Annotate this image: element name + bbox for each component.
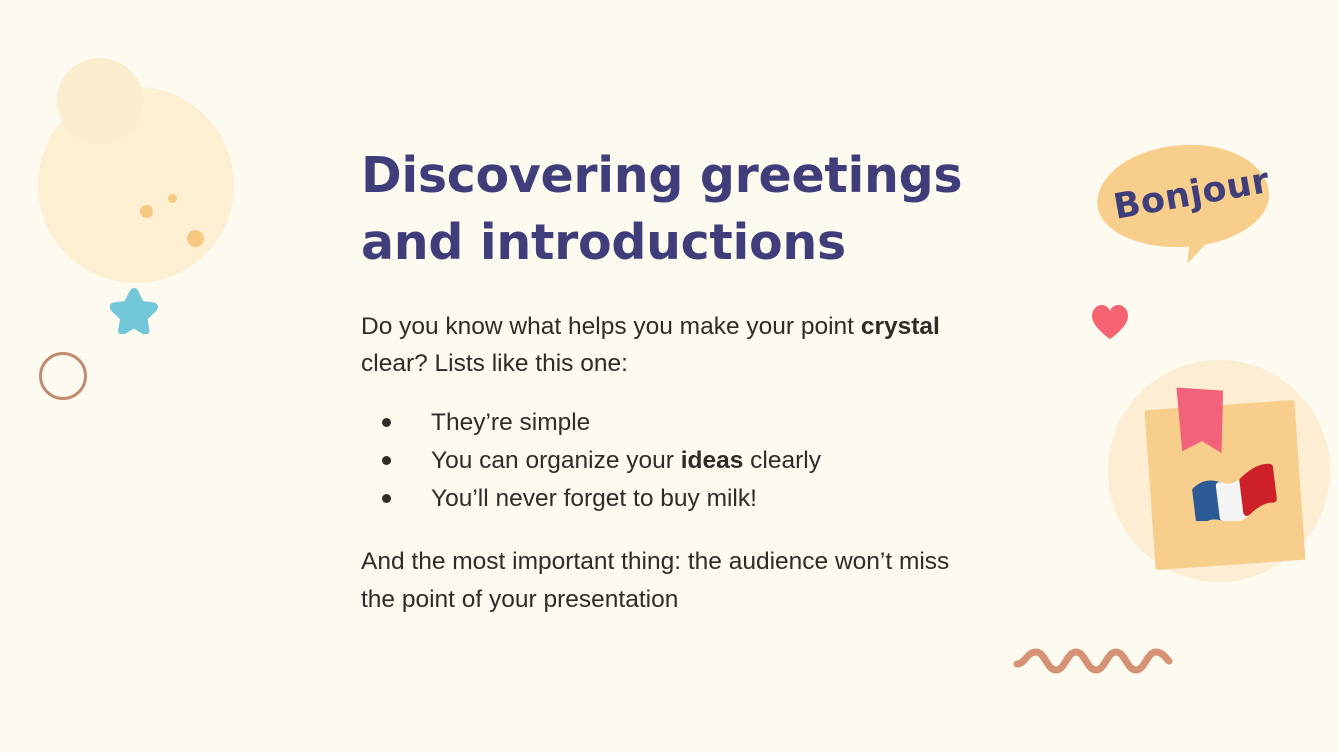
list-item-text: You’ll never forget to buy milk! (431, 485, 757, 512)
decorative-blob-small (57, 58, 143, 144)
slide-canvas: Bonjour (0, 0, 1338, 753)
list-item: You’ll never forget to buy milk! (361, 481, 981, 517)
list-item-emphasis: ideas (681, 447, 744, 474)
decorative-dot-1 (140, 205, 153, 218)
postcard-illustration (1108, 360, 1330, 605)
france-flag-icon (1190, 459, 1292, 521)
closing-paragraph: And the most important thing: the audien… (361, 519, 981, 617)
bullet-dot-icon (382, 494, 391, 503)
lead-paragraph: Do you know what helps you make your poi… (361, 276, 981, 382)
bullet-dot-icon (382, 418, 391, 427)
speech-bubble-tail (1187, 230, 1216, 267)
heart-icon (1090, 303, 1130, 341)
list-item-text-before: You can organize your (431, 447, 681, 474)
speech-bubble: Bonjour (1097, 145, 1282, 285)
decorative-dot-2 (168, 194, 177, 203)
slide-content: Discovering greetings and introductions … (361, 143, 981, 618)
list-item: You can organize your ideas clearly (361, 443, 981, 479)
circle-outline-icon (39, 352, 87, 400)
page-title: Discovering greetings and introductions (361, 143, 981, 276)
lead-paragraph-emphasis: crystal (861, 313, 940, 340)
ribbon-bookmark-icon (1176, 383, 1228, 457)
lead-paragraph-part1: Do you know what helps you make your poi… (361, 313, 861, 340)
wavy-line-icon (1012, 644, 1174, 678)
list-item: They’re simple (361, 405, 981, 441)
lead-paragraph-part2: clear? Lists like this one: (361, 350, 628, 377)
star-icon (110, 288, 158, 334)
bullet-dot-icon (382, 456, 391, 465)
decorative-dot-3 (187, 230, 204, 247)
bullet-list: They’re simple You can organize your ide… (361, 383, 981, 518)
list-item-text: They’re simple (431, 409, 590, 436)
list-item-text-after: clearly (743, 447, 821, 474)
